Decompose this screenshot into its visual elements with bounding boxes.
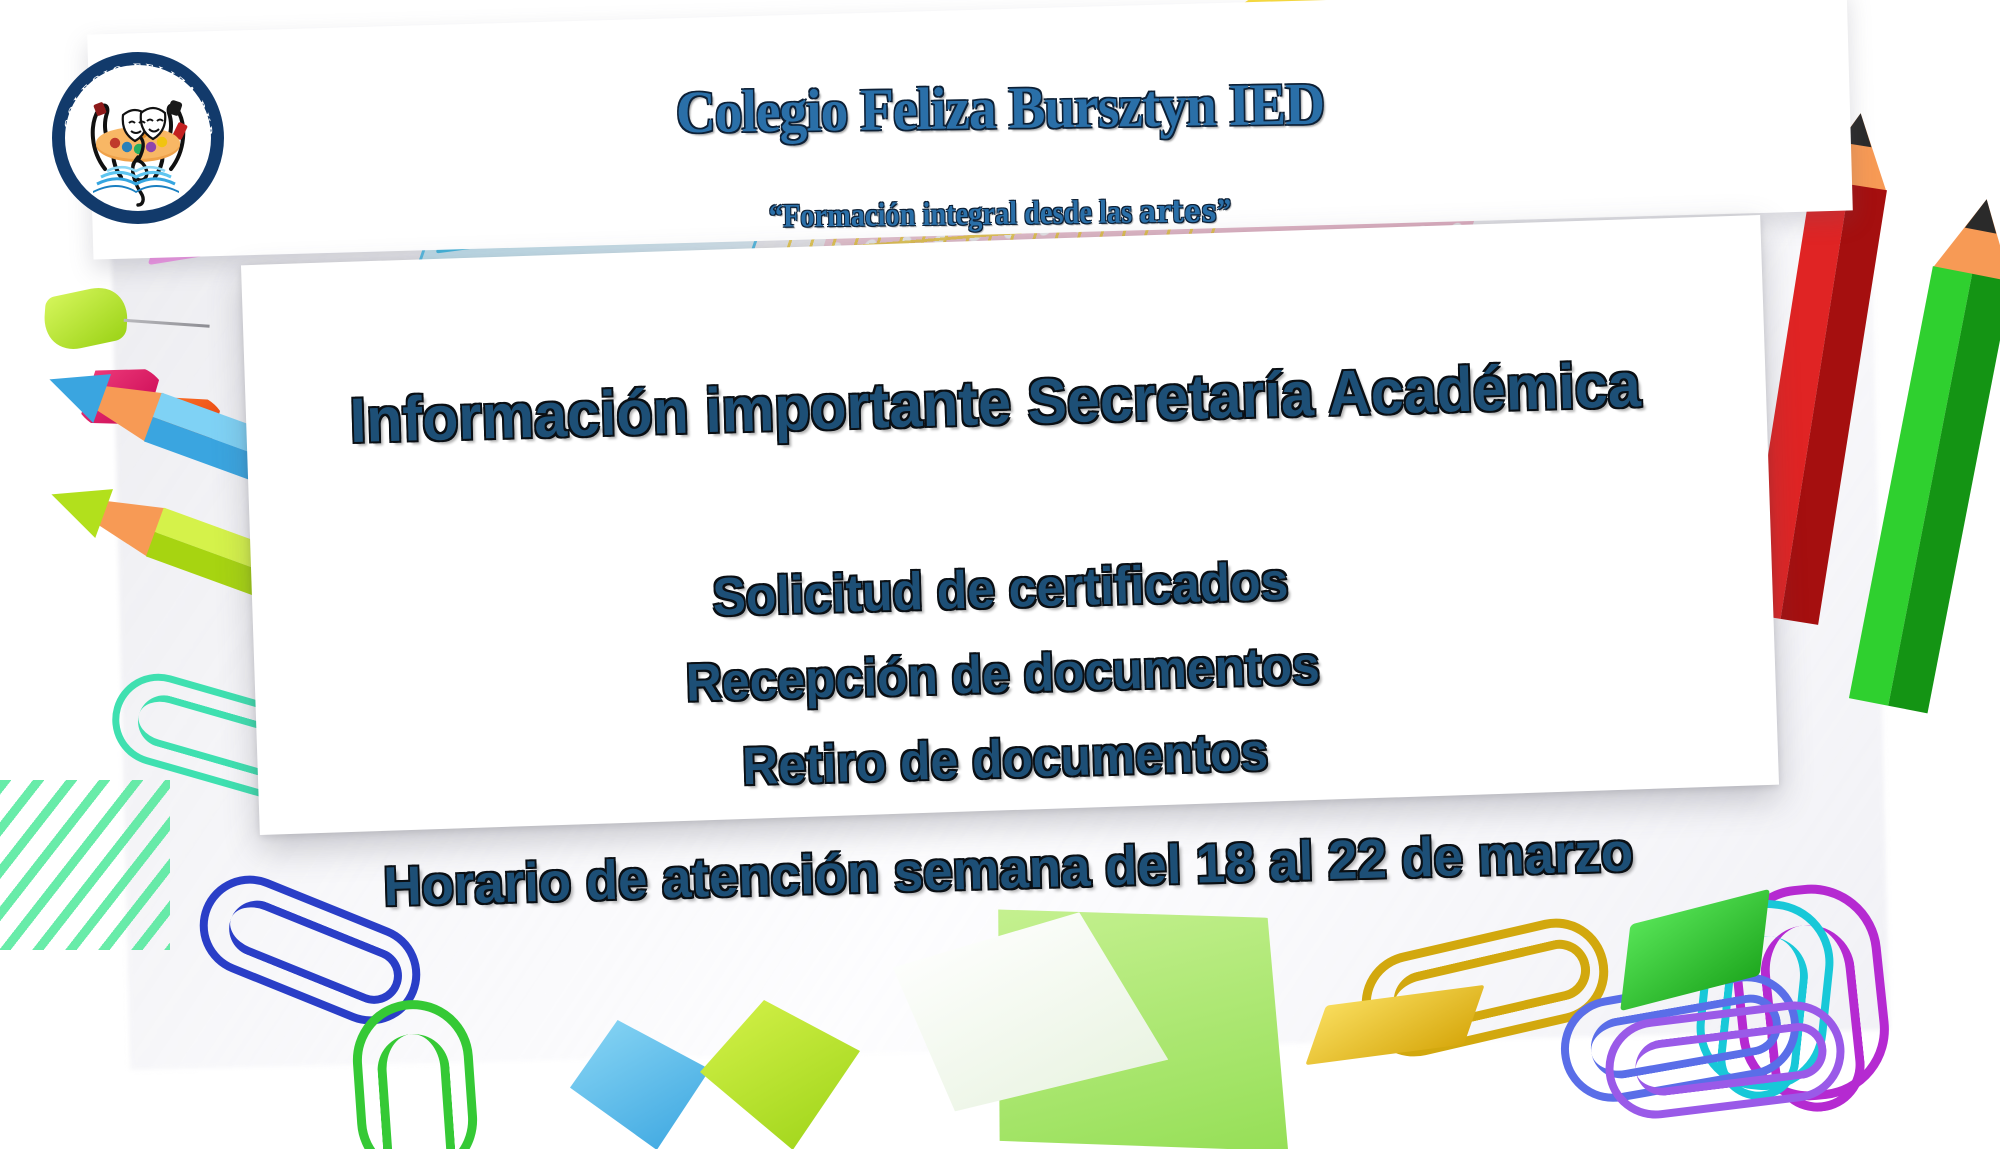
announcement-poster: COLEGIO FELIZA BURSZTYN I. E. D <box>0 0 2000 1149</box>
announcement-line-4: Horario de atención semana del 18 al 22 … <box>48 811 1969 927</box>
announcement-content: Información importante Secretaría Académ… <box>0 0 2000 1149</box>
announcement-heading: Información importante Secretaría Académ… <box>55 342 1936 464</box>
